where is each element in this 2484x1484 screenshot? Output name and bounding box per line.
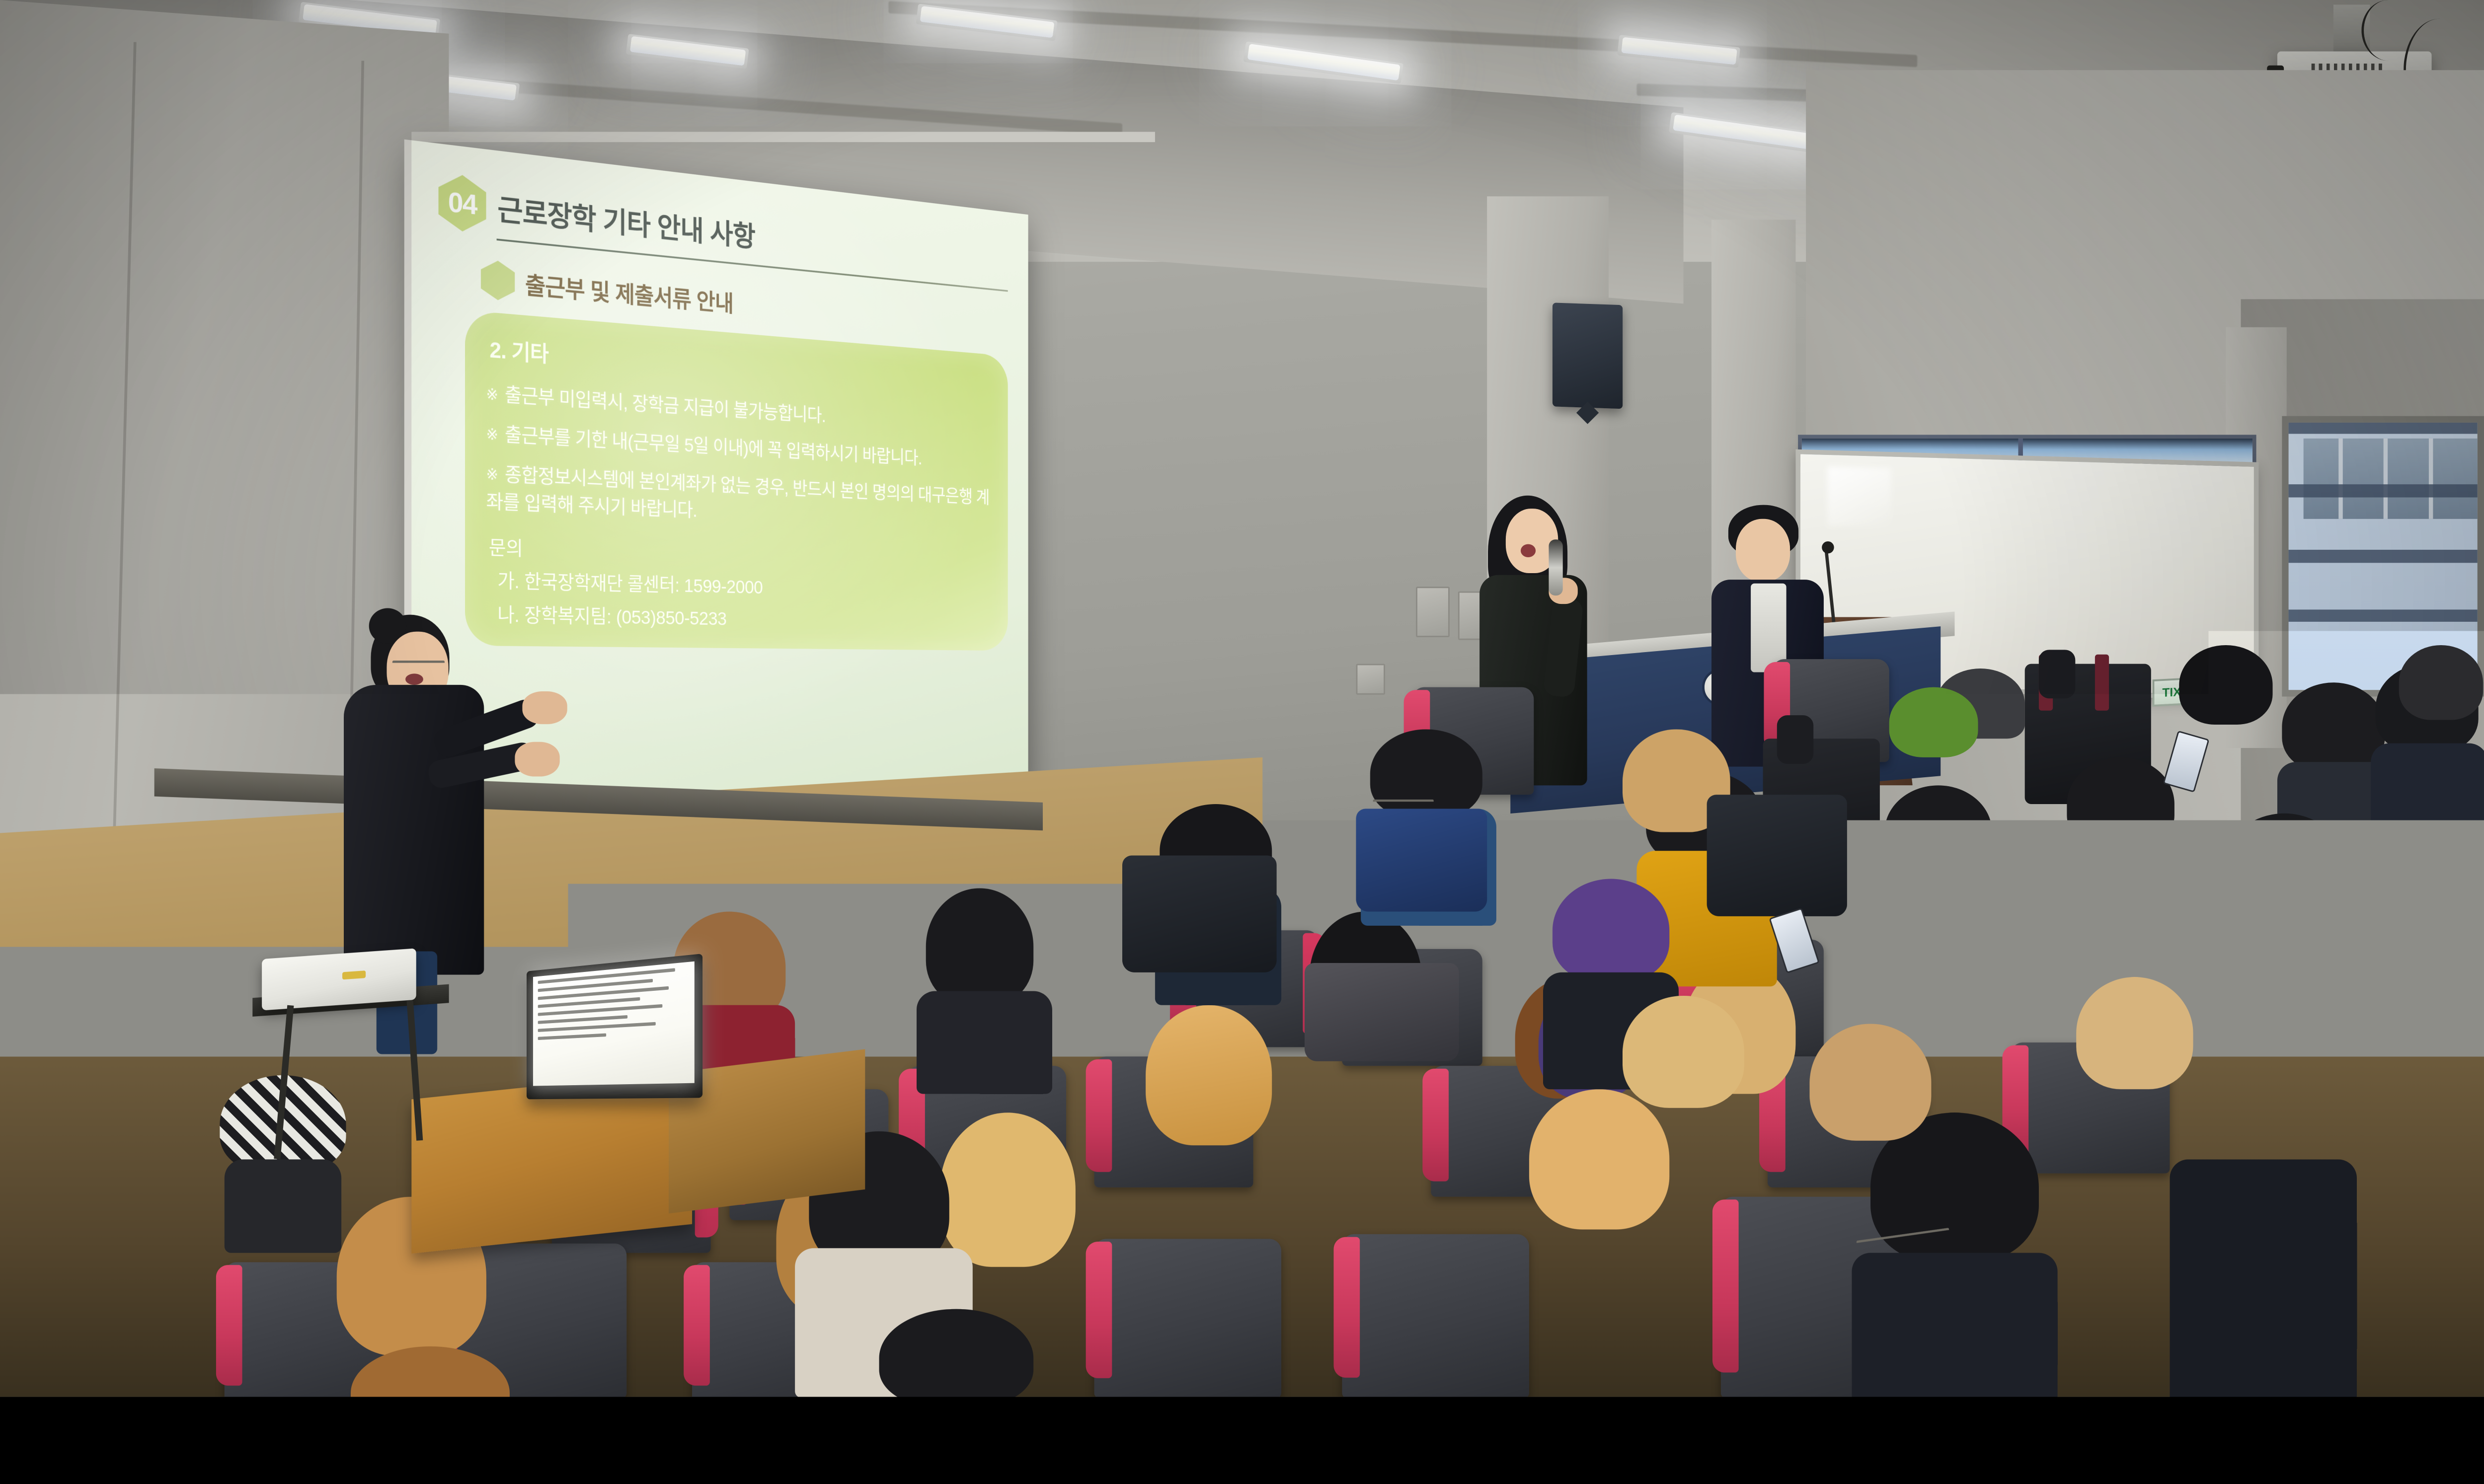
audience-torso [225,1159,341,1253]
audience-member-31 [879,1309,1038,1397]
audience-member-23 [2399,645,2484,776]
interpreter-hand-lower [515,742,559,777]
slide-bullet-3: ※종합정보시스템에 본인계좌가 없는 경우, 반드시 본인 명의의 대구은행 계… [486,460,992,535]
audience-hair [2179,645,2272,725]
audience-member-27 [1810,1024,1936,1206]
slide-bullet-text-3: 종합정보시스템에 본인계좌가 없는 경우, 반드시 본인 명의의 대구은행 계좌… [486,464,990,521]
slide-subtitle: 출근부 및 제출서류 안내 [525,266,733,318]
seat-cushion [1712,1199,1739,1372]
bullet-marker-2: ※ [486,426,498,444]
wall-outlet-plate-3[interactable] [1356,664,1385,695]
seat-cushion [1086,1242,1112,1378]
audience-hair [940,1113,1076,1267]
wheelchair-headrest-2 [1777,715,1813,764]
audience-member-28 [2076,977,2198,1155]
backpack-2 [1707,795,1847,916]
window-blind-2[interactable] [2289,484,2478,497]
audience-hair-purple-2 [1552,879,1669,982]
bullet-marker-3: ※ [486,466,498,483]
seat-cushion [684,1265,710,1386]
seat-C4[interactable] [1094,1239,1282,1397]
audience-hair [351,1346,510,1397]
projector-badge-icon [342,970,366,979]
audience-hair [1623,996,1744,1108]
backpack-3 [1880,823,2020,930]
sign-language-interpreter [344,615,498,989]
audience-torso [1852,1253,2057,1397]
window-mullion-2 [2384,439,2388,519]
interpreter-mouth [405,673,423,685]
window-blind-4[interactable] [2289,609,2478,621]
laptop-screen [533,962,695,1086]
presenter-mouth [1521,544,1536,557]
audience-member-34 [2170,1159,2357,1397]
audience-glasses-icon-2 [1373,800,1434,810]
window-mullion-1 [2338,439,2342,519]
portable-projector [262,948,416,1010]
power-cable [435,1131,587,1253]
audience-torso [2062,841,2184,972]
audience-torso [917,991,1052,1094]
wall-outlet-plate-1[interactable] [1416,587,1450,637]
seat-cushion [1422,1069,1449,1182]
wall-speaker [1552,302,1623,409]
audience-torso [2170,1159,2357,1397]
audience-torso [2217,902,2352,1029]
audience-hair [2282,682,2385,771]
slide-bullet-text-1: 출근부 미입력시, 장학금 지급이 불가능합니다. [505,384,826,426]
wheelchair-strap-right [2095,655,2109,711]
audience-hair [2399,645,2483,720]
audience-hair [1146,1005,1272,1145]
audience-member-4 [1146,1005,1277,1183]
wheelchair-headrest [2039,650,2075,698]
seat-cushion [1086,1059,1112,1172]
jacket-on-seat [1305,963,1459,1061]
exterior-building [2304,439,2478,519]
backpack-1 [1122,856,1277,972]
interpreter-hand-upper [522,691,567,724]
audience-hair [2076,977,2193,1089]
whiteboard-glare [1828,466,1891,527]
audience-hair [1810,1024,1932,1140]
audience-hair [1889,687,1978,757]
interpreter-glasses-icon [392,661,445,670]
bullet-marker-1: ※ [486,385,498,403]
slide-section-number: 04 [439,172,486,234]
lecture-hall-scene: 04 근로장학 기타 안내 사항 출근부 및 제출서류 안내 2. 기타 ※출근… [0,0,2484,1397]
audience-hair [926,888,1033,1005]
seat-cushion [1333,1237,1360,1378]
backpack-4 [1356,809,1487,911]
audience-member-25 [1889,687,1983,809]
audience-hair [2067,757,2174,851]
audience-member-3 [926,888,1043,1047]
staff-shirt [1751,584,1786,672]
slide-body-card: 2. 기타 ※출근부 미입력시, 장학금 지급이 불가능합니다. ※출근부를 기… [465,310,1008,651]
laptop-text-line [538,1015,627,1024]
drink-cup [2357,989,2402,1049]
seat-cushion [216,1265,242,1386]
staff-head [1736,519,1790,582]
slide-contact-2: 나. 장학복지팀: (053)850-5233 [497,599,991,635]
window-blind-3[interactable] [2289,550,2478,563]
laptop-text-line [538,968,675,984]
audience-member-17 [2067,757,2179,916]
laptop-text-line [538,1022,656,1032]
seat-C5[interactable] [1342,1234,1529,1397]
slide-subtitle-marker-icon [481,259,515,302]
audience-hair [879,1309,1034,1397]
audience-member-33 [1623,996,1749,1174]
window-mullion-3 [2429,439,2433,519]
audience-member-26 [2226,814,2347,982]
window-blind-1[interactable] [2289,423,2478,434]
laptop-text-line [538,1034,607,1040]
handheld-microphone-icon[interactable] [1549,539,1562,595]
audience-hair [2226,814,2342,912]
audience-member-30 [351,1346,519,1397]
drink-cup-lid [2354,973,2405,994]
screen-top-bar [411,132,1155,142]
